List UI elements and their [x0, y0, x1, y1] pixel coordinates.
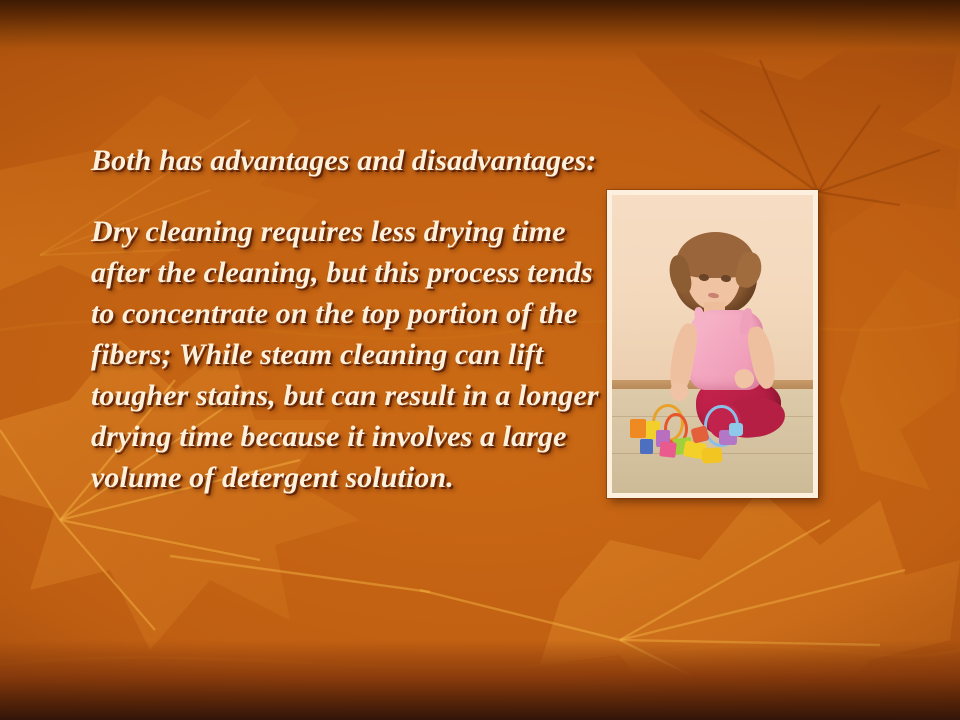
paragraph-intro: Both has advantages and disadvantages: [91, 140, 611, 181]
toy-block-blue [640, 439, 653, 454]
bottom-shade-bar [0, 640, 960, 720]
toy-link-yellow-2 [702, 448, 723, 464]
paragraph-body: Dry cleaning requires less drying time a… [91, 211, 611, 498]
slide-text-column: Both has advantages and disadvantages: D… [91, 110, 611, 528]
top-shade-bar [0, 0, 960, 62]
photo-frame [607, 190, 818, 498]
toy-block-pink [660, 442, 678, 458]
child-eye-right [720, 274, 731, 282]
toddler-playing-photo [612, 195, 813, 493]
slide-canvas: Both has advantages and disadvantages: D… [0, 0, 960, 720]
toy-link-lightblue [729, 423, 743, 436]
toy-block-orange [630, 419, 646, 438]
